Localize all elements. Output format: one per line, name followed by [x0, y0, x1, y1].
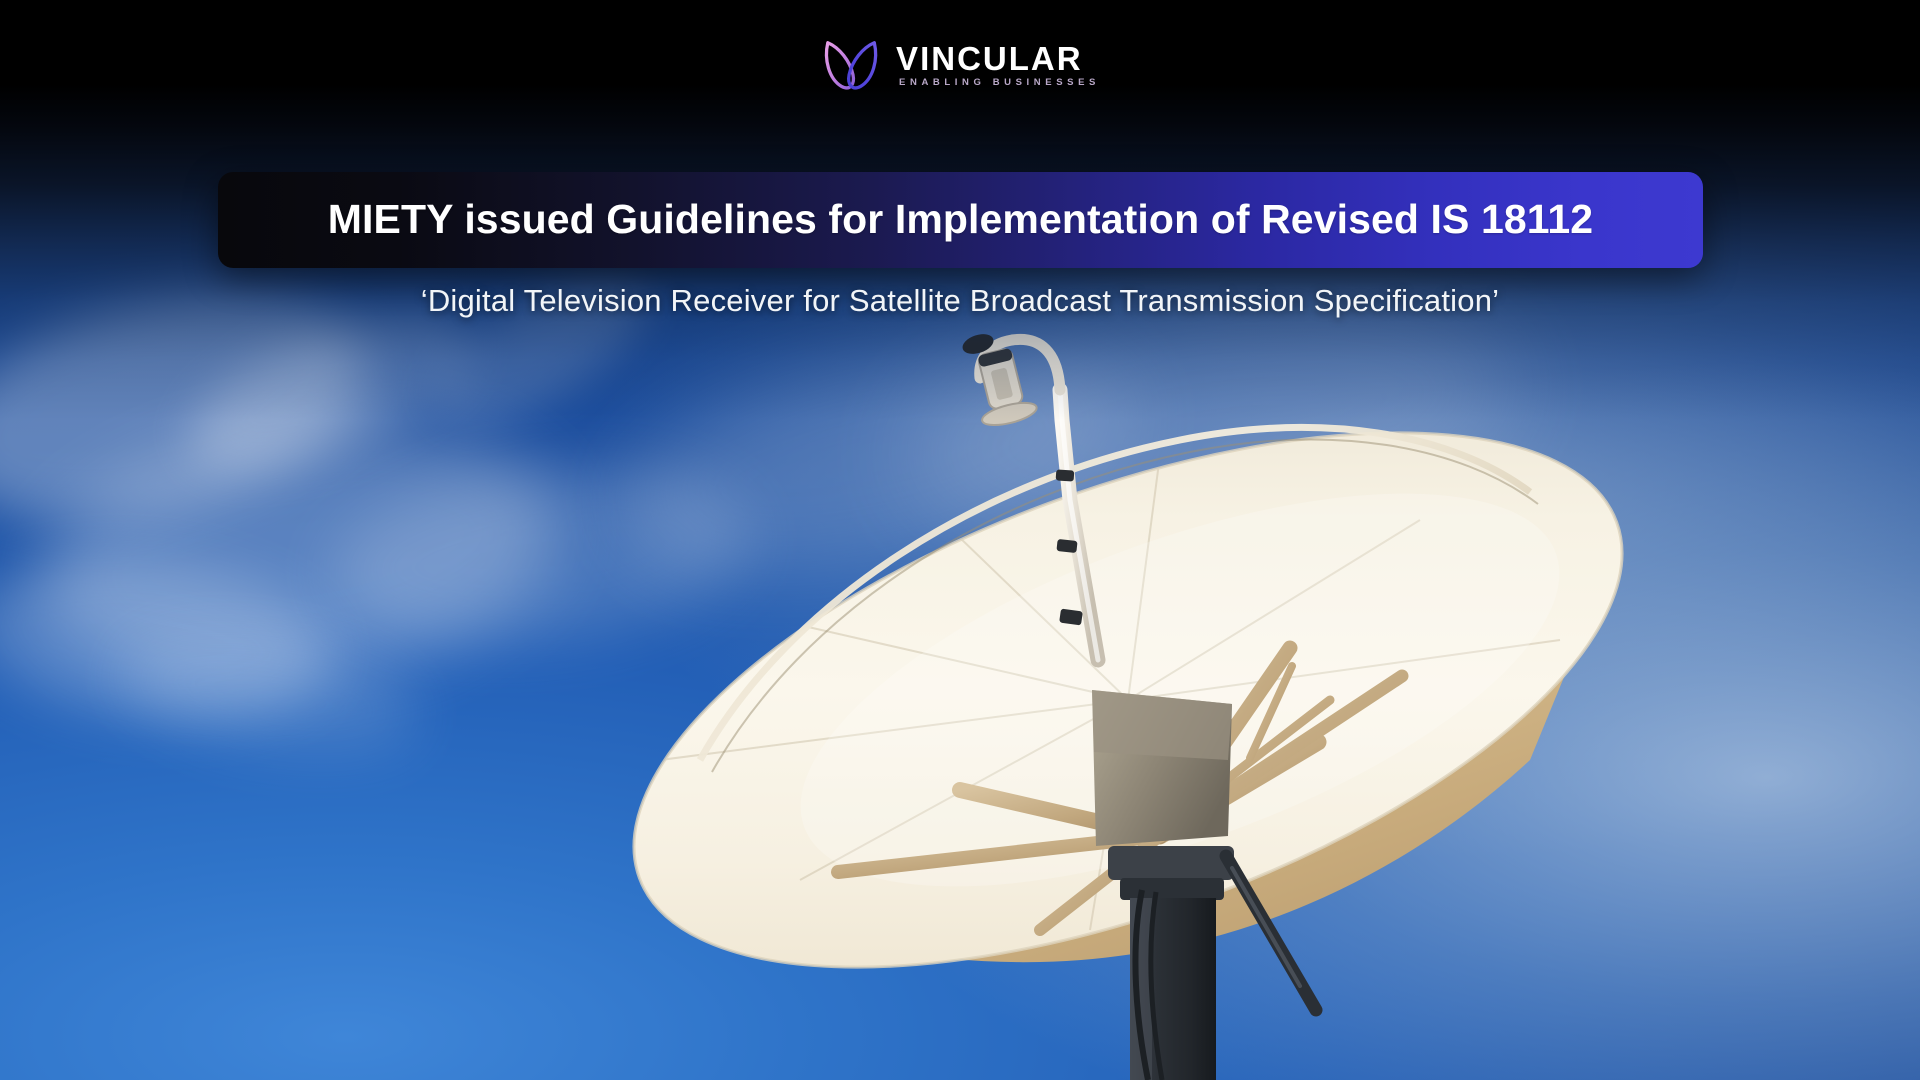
title-banner: MIETY issued Guidelines for Implementati…: [218, 172, 1703, 268]
background-photo: [0, 0, 1920, 1080]
logo-wordmark: VINCULAR: [896, 42, 1100, 75]
dish-hub: [1092, 690, 1232, 846]
satellite-dish-antenna: [0, 0, 1920, 1080]
vincular-butterfly-v-icon: [820, 34, 882, 96]
banner-graphic: VINCULAR ENABLING BUSINESSES MIETY issue…: [0, 0, 1920, 1080]
vincular-logo[interactable]: VINCULAR ENABLING BUSINESSES: [820, 34, 1100, 96]
page-title: MIETY issued Guidelines for Implementati…: [328, 197, 1593, 242]
page-subtitle: ‘Digital Television Receiver for Satelli…: [0, 282, 1920, 321]
logo-tagline: ENABLING BUSINESSES: [896, 78, 1100, 88]
